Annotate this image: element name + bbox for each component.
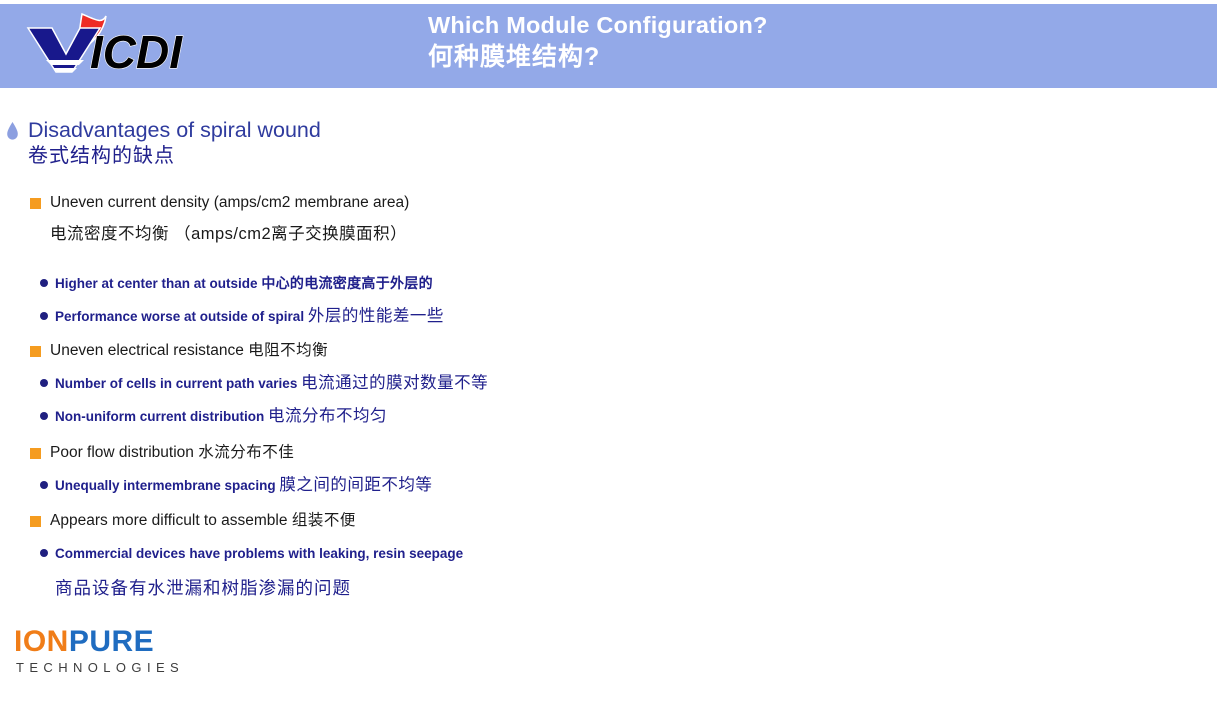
bullet-chinese-line-text: 商品设备有水泄漏和树脂渗漏的问题 — [55, 576, 351, 600]
bullet-text-english: Non-uniform current distribution — [55, 409, 264, 424]
slide-title-english: Which Module Configuration? — [428, 10, 1128, 40]
bullet-text-wrap: Unequally intermembrane spacing 膜之间的间距不均… — [55, 476, 432, 495]
bullet-text-english: Performance worse at outside of spiral — [55, 309, 304, 324]
square-bullet-icon — [30, 516, 41, 527]
bullet-text-wrap: Uneven electrical resistance 电阻不均衡 — [50, 340, 328, 361]
svg-text:ICDI: ICDI — [90, 26, 183, 78]
bullet-text-wrap: Non-uniform current distribution 电流分布不均匀 — [55, 407, 387, 426]
bullet-text: Uneven current density (amps/cm2 membran… — [50, 192, 409, 213]
bullet-text-wrap: Appears more difficult to assemble 组装不便 — [50, 510, 356, 531]
ionpure-wordmark: IONPURE — [14, 625, 244, 659]
bullet-text: Commercial devices have problems with le… — [55, 544, 463, 563]
bullet-text-wrap: Poor flow distribution 水流分布不佳 — [50, 442, 294, 463]
bullet-text-wrap: Number of cells in current path varies 电… — [55, 374, 488, 393]
bullet-text-chinese: 电流分布不均匀 — [268, 407, 387, 425]
bullet-text-chinese: 电阻不均衡 — [248, 342, 328, 359]
bullet-text-english: Unequally intermembrane spacing — [55, 478, 276, 493]
icdi-logo: ICDI — [22, 10, 202, 82]
square-bullet-icon — [30, 448, 41, 459]
slide-title-chinese: 何种膜堆结构? — [428, 40, 1128, 74]
ionpure-tagline: TECHNOLOGIES — [14, 659, 244, 677]
bullet-text-chinese: 电流通过的膜对数量不等 — [301, 374, 488, 392]
ionpure-word-ion: ION — [14, 625, 69, 658]
bullet-text-chinese: 膜之间的间距不均等 — [279, 476, 432, 494]
dot-bullet-icon — [40, 279, 48, 287]
ionpure-word-pure: PURE — [69, 625, 154, 658]
dot-bullet-icon — [40, 549, 48, 557]
bullet-text-chinese: 组装不便 — [292, 512, 356, 529]
section-heading-english: Disadvantages of spiral wound — [28, 116, 321, 144]
bullet-text-wrap: Performance worse at outside of spiral 外… — [55, 307, 444, 326]
bullet-text-english: Poor flow distribution — [50, 444, 194, 461]
bullet-subline-text: 电流密度不均衡 （amps/cm2离子交换膜面积） — [50, 224, 407, 245]
bullet-text-english: Uneven electrical resistance — [50, 342, 244, 359]
square-bullet-icon — [30, 346, 41, 357]
bullet-text-chinese: 外层的性能差一些 — [308, 307, 444, 325]
bullet-text-wrap: Higher at center than at outside 中心的电流密度… — [55, 274, 433, 293]
dot-bullet-icon — [40, 312, 48, 320]
slide-header: ICDI Which Module Configuration? 何种膜堆结构? — [0, 4, 1217, 88]
slide-title-block: Which Module Configuration? 何种膜堆结构? — [428, 10, 1128, 74]
section-heading-chinese: 卷式结构的缺点 — [28, 143, 175, 170]
bullet-text-english: Higher at center than at outside — [55, 276, 258, 291]
dot-bullet-icon — [40, 412, 48, 420]
bullet-text-chinese: 中心的电流密度高于外层的 — [261, 275, 433, 291]
dot-bullet-icon — [40, 379, 48, 387]
dot-bullet-icon — [40, 481, 48, 489]
slide-body: Disadvantages of spiral wound 卷式结构的缺点 Un… — [0, 88, 1224, 618]
bullet-text-english: Number of cells in current path varies — [55, 376, 297, 391]
bullet-text-english: Appears more difficult to assemble — [50, 512, 288, 529]
water-drop-bullet-icon — [6, 122, 19, 140]
ionpure-logo: IONPURE TECHNOLOGIES — [14, 625, 244, 677]
bullet-text-chinese: 水流分布不佳 — [198, 444, 294, 461]
square-bullet-icon — [30, 198, 41, 209]
